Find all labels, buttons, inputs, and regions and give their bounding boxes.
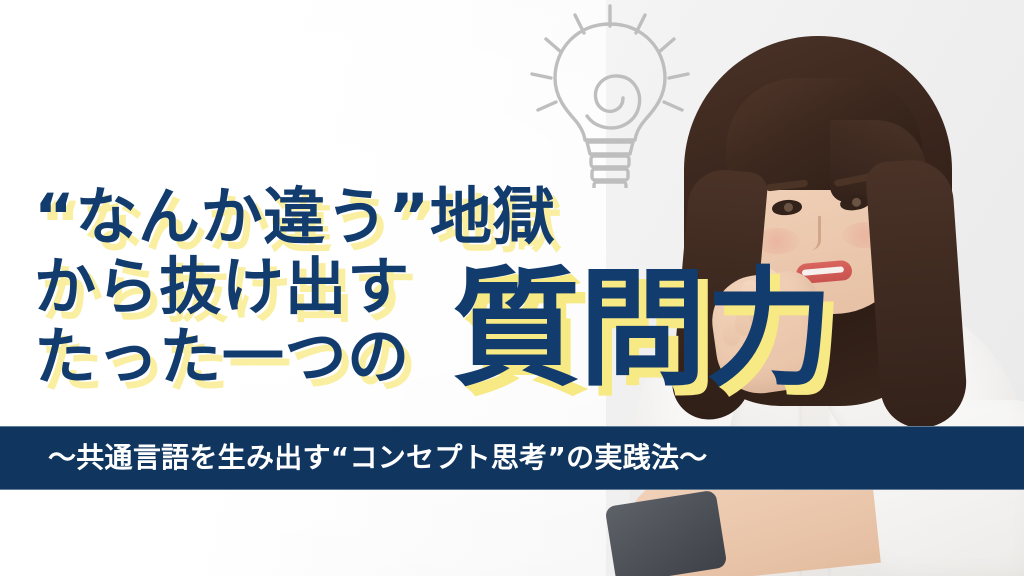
headline-emphasis: 質問力 質問力 (452, 266, 832, 394)
headline-emphasis-text: 質問力 (452, 266, 832, 394)
headline-line-2-text: から抜け出す (34, 256, 410, 318)
subtitle-banner: 〜共通言語を生み出す“コンセプト思考”の実践法〜 (0, 426, 1024, 490)
subtitle-text: 〜共通言語を生み出す“コンセプト思考”の実践法〜 (48, 444, 708, 472)
headline-line-1-text: “なんか違う”地獄 (34, 186, 555, 248)
headline-line-3-text: たった一つの (34, 326, 410, 388)
title-banner-canvas: “なんか違う”地獄 “なんか違う”地獄 から抜け出す から抜け出す たった一つの… (0, 0, 1024, 576)
headline-line-1: “なんか違う”地獄 “なんか違う”地獄 (34, 186, 834, 248)
lightbulb-icon (515, 2, 705, 188)
